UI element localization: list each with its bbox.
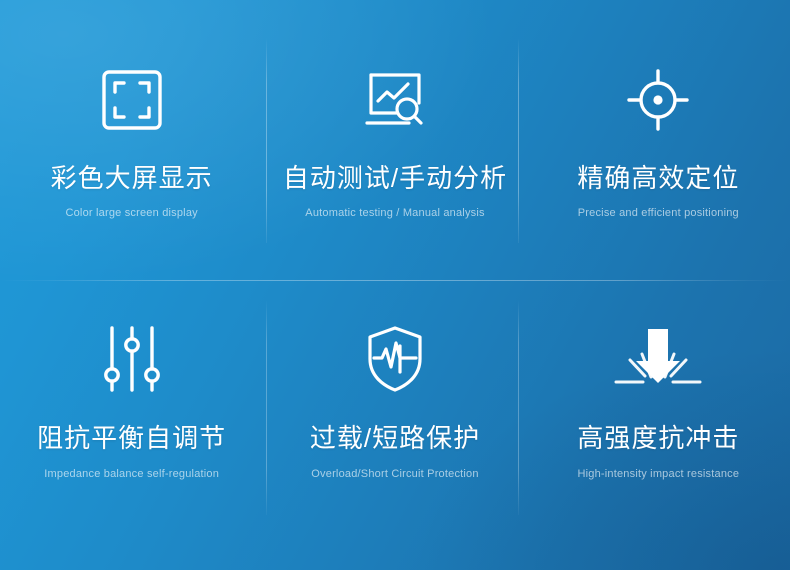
chart-analysis-icon <box>363 62 427 138</box>
crosshair-target-icon <box>627 62 689 138</box>
shield-pulse-icon <box>365 318 425 400</box>
feature-subtitle: Color large screen display <box>65 207 197 219</box>
feature-title: 精确高效定位 <box>577 164 739 193</box>
feature-subtitle: High-intensity impact resistance <box>577 468 739 480</box>
feature-title: 彩色大屏显示 <box>51 164 213 193</box>
impact-arrow-icon <box>612 318 704 400</box>
feature-cell-color-screen: 彩色大屏显示 Color large screen display <box>0 0 263 280</box>
feature-cell-testing-analysis: 自动测试/手动分析 Automatic testing / Manual ana… <box>263 0 526 280</box>
feature-title: 自动测试/手动分析 <box>283 164 507 193</box>
feature-title: 阻抗平衡自调节 <box>37 424 226 453</box>
feature-cell-positioning: 精确高效定位 Precise and efficient positioning <box>527 0 790 280</box>
feature-cell-impedance-balance: 阻抗平衡自调节 Impedance balance self-regulatio… <box>0 280 263 570</box>
feature-subtitle: Automatic testing / Manual analysis <box>305 207 484 219</box>
equalizer-sliders-icon <box>102 318 162 400</box>
screen-frame-icon <box>100 62 164 138</box>
feature-grid: 彩色大屏显示 Color large screen display 自动测试/手… <box>0 0 790 570</box>
feature-title: 过载/短路保护 <box>310 424 480 453</box>
feature-subtitle: Precise and efficient positioning <box>578 207 739 219</box>
feature-subtitle: Impedance balance self-regulation <box>44 468 219 480</box>
feature-subtitle: Overload/Short Circuit Protection <box>311 468 478 480</box>
feature-cell-circuit-protection: 过载/短路保护 Overload/Short Circuit Protectio… <box>263 280 526 570</box>
feature-title: 高强度抗冲击 <box>577 424 739 453</box>
feature-cell-impact-resistance: 高强度抗冲击 High-intensity impact resistance <box>527 280 790 570</box>
